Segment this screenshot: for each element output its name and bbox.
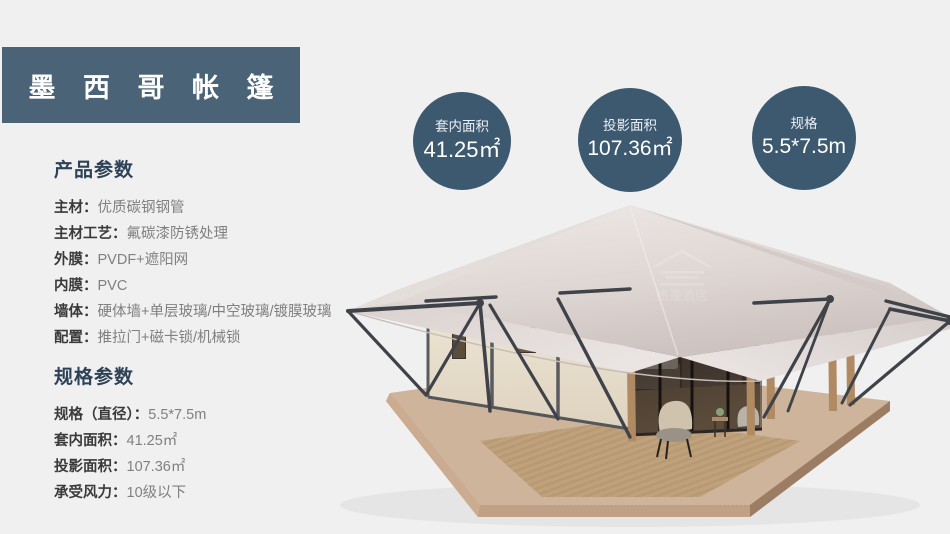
page-root: 墨 西 哥 帐 篷 产品参数 主材：优质碳钢钢管 主材工艺：氟碳漆防锈处理 外膜… <box>0 0 950 534</box>
spec-label: 配置： <box>54 330 98 346</box>
stat-badge-label: 套内面积 <box>435 119 489 135</box>
stat-badge-projected-area: 投影面积 107.36㎡ <box>578 88 682 192</box>
spec-label: 套内面积： <box>54 433 127 449</box>
spec-value: PVC <box>98 278 128 294</box>
spec-value: 优质碳钢钢管 <box>98 200 185 216</box>
spec-value: 硬体墙+单层玻璃/中空玻璃/镀膜玻璃 <box>98 304 332 320</box>
stat-badge-label: 规格 <box>791 116 818 132</box>
title-banner: 墨 西 哥 帐 篷 <box>0 45 302 125</box>
spec-label: 内膜： <box>54 278 98 294</box>
stat-badge-label: 投影面积 <box>603 118 657 134</box>
stat-badge-dimensions: 规格 5.5*7.5m <box>752 86 856 190</box>
spec-value: 5.5*7.5m <box>148 407 206 423</box>
spec-label: 主材工艺： <box>54 226 127 242</box>
spec-value: PVDF+遮阳网 <box>98 252 189 268</box>
spec-value: 10级以下 <box>127 485 187 501</box>
spec-label: 承受风力： <box>54 485 127 501</box>
stat-badge-value: 5.5*7.5m <box>762 134 846 160</box>
product-parameters-heading: 产品参数 <box>54 160 384 183</box>
spec-value: 107.36㎡ <box>127 459 186 475</box>
stat-badge-interior-area: 套内面积 41.25㎡ <box>413 92 511 190</box>
stat-badge-value: 107.36㎡ <box>587 136 672 162</box>
spec-label: 外膜： <box>54 252 98 268</box>
spec-label: 规格（直径）： <box>54 407 148 423</box>
tent-render-image: 帐篷酒店 <box>330 205 950 534</box>
spec-label: 墙体： <box>54 304 98 320</box>
spec-value: 推拉门+磁卡锁/机械锁 <box>98 330 241 346</box>
watermark-text: 帐篷酒店 <box>656 288 708 303</box>
spec-value: 41.25㎡ <box>127 433 178 449</box>
spec-label: 主材： <box>54 200 98 216</box>
stat-badge-value: 41.25㎡ <box>423 137 500 163</box>
page-title: 墨 西 哥 帐 篷 <box>18 66 283 105</box>
spec-label: 投影面积： <box>54 459 127 475</box>
spec-value: 氟碳漆防锈处理 <box>127 226 229 242</box>
